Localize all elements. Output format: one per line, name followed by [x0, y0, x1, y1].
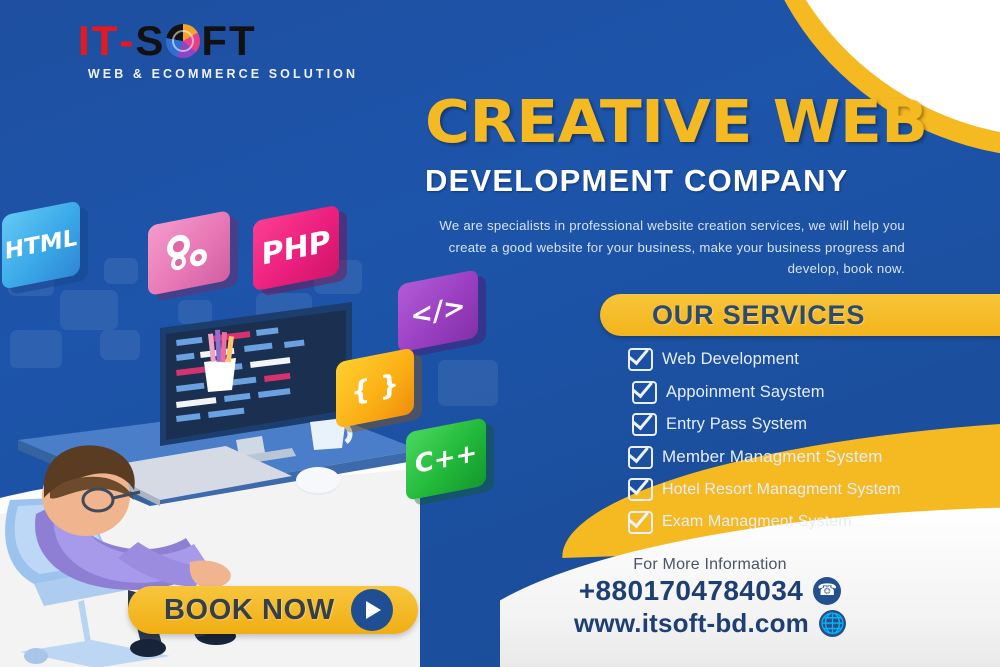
contact-website-url[interactable]: www.itsoft-bd.com	[574, 608, 809, 639]
book-now-label: BOOK NOW	[164, 594, 335, 627]
service-label: Hotel Resort Managment System	[662, 481, 901, 499]
contact-phone-number[interactable]: +8801704784034	[579, 575, 803, 607]
service-label: Web Development	[662, 350, 799, 369]
contact-block: For More Information +8801704784034 ☎ ww…	[520, 556, 900, 639]
page-subtitle: DEVELOPMENT COMPANY	[425, 165, 965, 196]
badge-label: C++	[415, 438, 478, 480]
list-item: Web Development	[628, 348, 1000, 371]
list-item: Appoinment Saystem	[632, 381, 1000, 404]
badge-label: { }	[351, 368, 399, 408]
logo-s-text: S	[135, 20, 165, 62]
gears-icon	[166, 229, 212, 278]
play-arrow-icon	[351, 589, 393, 631]
contact-website-row[interactable]: www.itsoft-bd.com 🌐	[520, 608, 900, 639]
badge-label: PHP	[261, 224, 330, 272]
hero-heading-group: CREATIVE WEB DEVELOPMENT COMPANY	[425, 92, 965, 196]
logo-ft-text: FT	[201, 20, 256, 62]
list-item: Entry Pass System	[632, 413, 1000, 436]
service-label: Exam Managment System	[662, 513, 852, 531]
decorative-square	[438, 360, 498, 406]
checkbox-icon	[632, 413, 657, 436]
promotional-banner: HTML PHP </> { } C++ IT - S FT WEB & ECO…	[0, 0, 1000, 667]
globe-icon: 🌐	[819, 610, 846, 637]
checkbox-icon	[628, 478, 653, 501]
tech-badge-html: HTML	[2, 200, 80, 289]
logo-wordmark: IT - S FT	[78, 20, 378, 62]
list-item: Hotel Resort Managment System	[628, 478, 1000, 501]
badge-label: HTML	[5, 225, 77, 265]
service-label: Appoinment Saystem	[666, 383, 825, 402]
services-list: Web Development Appoinment Saystem Entry…	[628, 348, 1000, 543]
logo-tagline: WEB & ECOMMERCE SOLUTION	[78, 67, 368, 81]
page-title: CREATIVE WEB	[425, 92, 987, 151]
contact-phone-row[interactable]: +8801704784034 ☎	[520, 575, 900, 607]
checkbox-icon	[628, 446, 653, 469]
contact-more-info-label: For More Information	[520, 556, 900, 574]
checkbox-icon	[628, 348, 653, 371]
services-heading-pill: OUR SERVICES	[600, 294, 1000, 336]
service-label: Member Managment System	[662, 447, 883, 467]
hero-description: We are specialists in professional websi…	[425, 215, 905, 280]
company-logo[interactable]: IT - S FT WEB & ECOMMERCE SOLUTION	[78, 20, 378, 81]
globe-icon	[166, 24, 200, 58]
list-item: Member Managment System	[628, 446, 1000, 469]
phone-icon: ☎	[813, 577, 841, 605]
checkbox-icon	[632, 381, 657, 404]
service-label: Entry Pass System	[666, 415, 807, 434]
logo-dash: -	[119, 20, 135, 62]
services-heading-label: OUR SERVICES	[652, 300, 865, 331]
logo-it-text: IT	[78, 20, 119, 62]
list-item: Exam Managment System	[628, 511, 1000, 534]
decorative-square	[104, 258, 138, 284]
book-now-button[interactable]: BOOK NOW	[128, 586, 418, 634]
checkbox-icon	[628, 511, 653, 534]
badge-label: </>	[410, 290, 465, 332]
